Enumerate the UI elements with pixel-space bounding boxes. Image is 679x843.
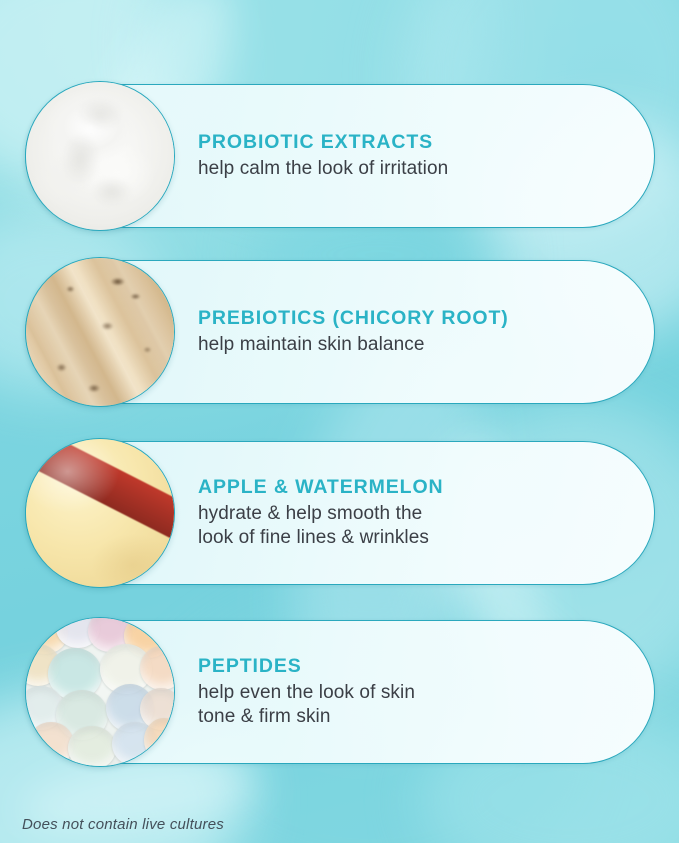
card-description: help even the look of skin tone & firm s… <box>198 681 415 729</box>
probiotic-extracts-thumbnail <box>25 81 175 231</box>
ingredient-card-apple-watermelon[interactable]: APPLE & WATERMELON hydrate & help smooth… <box>25 441 655 585</box>
card-description: help calm the look of irritation <box>198 157 448 181</box>
peptides-thumbnail <box>25 617 175 767</box>
ingredient-card-peptides[interactable]: PEPTIDES help even the look of skin tone… <box>25 620 655 764</box>
apple-watermelon-thumbnail <box>25 438 175 588</box>
card-title: PROBIOTIC EXTRACTS <box>198 131 448 154</box>
card-description: hydrate & help smooth the look of fine l… <box>198 502 444 550</box>
ingredient-card-probiotic-extracts[interactable]: PROBIOTIC EXTRACTS help calm the look of… <box>25 84 655 228</box>
card-text-block: APPLE & WATERMELON hydrate & help smooth… <box>198 476 462 550</box>
pastel-gel-beads-photo <box>26 618 174 766</box>
gel-bead <box>28 722 74 766</box>
ingredient-card-prebiotics-chicory-root[interactable]: PREBIOTICS (CHICORY ROOT) help maintain … <box>25 260 655 404</box>
card-text-block: PROBIOTIC EXTRACTS help calm the look of… <box>198 131 466 181</box>
white-cream-swirl-photo <box>26 82 174 230</box>
prebiotics-chicory-root-thumbnail <box>25 257 175 407</box>
chicory-root-fibers-photo <box>26 258 174 406</box>
card-title: PREBIOTICS (CHICORY ROOT) <box>198 307 509 330</box>
gel-bead <box>68 726 116 767</box>
card-title: APPLE & WATERMELON <box>198 476 444 499</box>
card-text-block: PREBIOTICS (CHICORY ROOT) help maintain … <box>198 307 527 357</box>
card-description: help maintain skin balance <box>198 333 509 357</box>
disclaimer-note: Does not contain live cultures <box>22 816 224 833</box>
ingredient-card-list: PROBIOTIC EXTRACTS help calm the look of… <box>0 0 679 843</box>
card-text-block: PEPTIDES help even the look of skin tone… <box>198 655 433 729</box>
card-title: PEPTIDES <box>198 655 415 678</box>
sliced-apple-and-watermelon-photo <box>26 439 174 587</box>
